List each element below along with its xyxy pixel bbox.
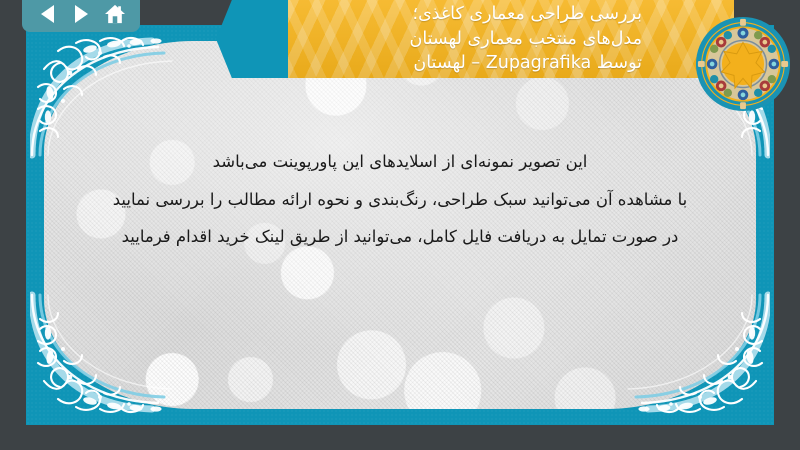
title-line-1: بررسی طراحی معماری کاغذی؛ <box>409 2 642 27</box>
slide-body-text: این تصویر نمونه‌ای از اسلایدهای این پاور… <box>66 143 734 256</box>
triangle-left-icon <box>41 5 54 23</box>
slide-title-banner: بررسی طراحی معماری کاغذی؛ مدل‌های منتخب … <box>216 0 734 78</box>
home-icon <box>104 4 126 24</box>
title-line-2: مدل‌های منتخب معماری لهستان <box>409 27 642 52</box>
title-line-3: توسط Zupagrafika – لهستان <box>409 51 642 76</box>
home-button[interactable] <box>102 2 128 26</box>
banner-arrow-tab <box>216 0 288 78</box>
presentation-viewer: بررسی طراحی معماری کاغذی؛ مدل‌های منتخب … <box>0 0 800 450</box>
triangle-right-icon <box>75 5 88 23</box>
next-slide-button[interactable] <box>68 2 94 26</box>
islamic-mandala-medallion <box>694 15 792 113</box>
slide: بررسی طراحی معماری کاغذی؛ مدل‌های منتخب … <box>26 25 774 425</box>
body-line-1: این تصویر نمونه‌ای از اسلایدهای این پاور… <box>66 143 734 181</box>
slide-navigation-bar <box>22 0 140 32</box>
previous-slide-button[interactable] <box>34 2 60 26</box>
body-line-2: با مشاهده آن می‌توانید سبک طراحی، رنگ‌بن… <box>66 181 734 219</box>
body-line-3: در صورت تمایل به دریافت فایل کامل، می‌تو… <box>66 218 734 256</box>
page-title: بررسی طراحی معماری کاغذی؛ مدل‌های منتخب … <box>409 2 642 77</box>
banner-yellow-band: بررسی طراحی معماری کاغذی؛ مدل‌های منتخب … <box>288 0 734 78</box>
